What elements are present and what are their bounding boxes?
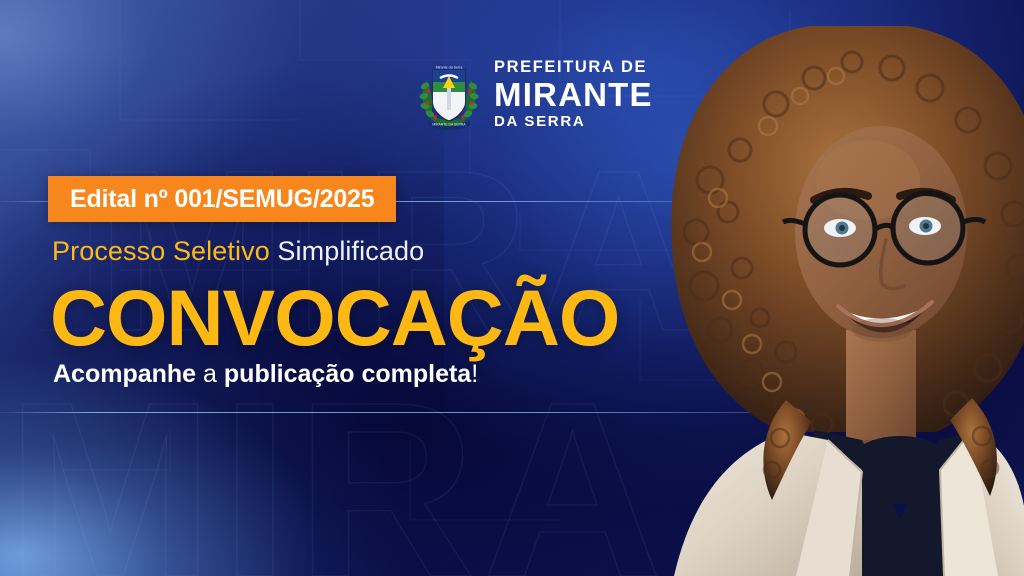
tagline: Acompanhe a publicação completa!: [53, 360, 478, 389]
logo-line-mirante: MIRANTE: [494, 78, 653, 111]
coat-of-arms-icon: MIRANTE DA SERRA Mirante da Serra: [418, 58, 480, 130]
subheadline: Processo Seletivo Simplificado: [52, 236, 424, 267]
logo-line-prefeitura: PREFEITURA DE: [494, 59, 653, 76]
svg-text:MIRANTE DA SERRA: MIRANTE DA SERRA: [432, 123, 466, 127]
tagline-bold-2: publicação completa: [224, 360, 471, 388]
logo-line-da-serra: DA SERRA: [494, 114, 653, 129]
headline-convocacao: CONVOCAÇÃO: [50, 272, 619, 364]
svg-text:Mirante da Serra: Mirante da Serra: [436, 65, 463, 69]
tagline-normal-2: !: [471, 360, 478, 388]
edital-badge[interactable]: Edital nº 001/SEMUG/2025: [48, 176, 396, 222]
tagline-normal-1: a: [203, 360, 217, 388]
subheadline-gold: Processo Seletivo: [52, 236, 270, 266]
portrait-photo: [600, 0, 1024, 576]
subheadline-white: Simplificado: [277, 236, 424, 266]
edital-badge-label: Edital nº 001/SEMUG/2025: [70, 185, 374, 214]
banner-canvas: MIRANTE MIRA: [0, 0, 1024, 576]
prefeitura-logo: MIRANTE DA SERRA Mirante da Serra PREFEI…: [418, 58, 653, 130]
tagline-bold-1: Acompanhe: [53, 360, 196, 388]
